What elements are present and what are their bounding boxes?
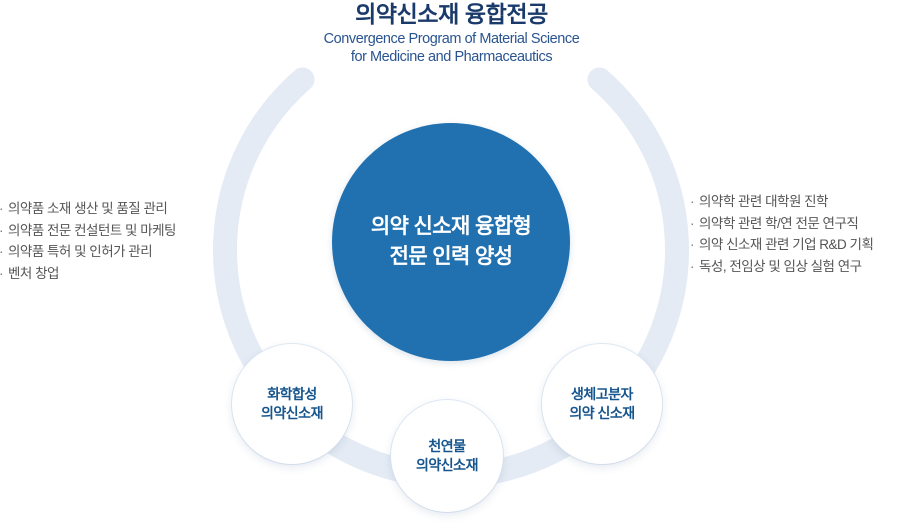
right-outcomes-list: ·의약학 관련 대학원 진학 ·의약학 관련 학/연 전문 연구직 ·의약 신소… (690, 191, 873, 277)
bullet-icon: · (0, 198, 8, 220)
list-item: ·의약품 전문 컨설턴트 및 마케팅 (0, 220, 176, 242)
bullet-icon: · (690, 213, 699, 235)
list-item: ·벤처 창업 (0, 263, 176, 285)
bullet-icon: · (0, 220, 8, 242)
bullet-icon: · (690, 234, 699, 256)
bullet-icon: · (0, 241, 8, 263)
bullet-icon: · (690, 256, 699, 278)
node-natural-products[interactable]: 천연물 의약신소재 (391, 400, 503, 512)
list-item-label: 의약품 전문 컨설턴트 및 마케팅 (8, 223, 176, 238)
list-item: ·의약학 관련 학/연 전문 연구직 (690, 213, 873, 235)
center-goal-label: 의약 신소재 융합형 전문 인력 양성 (371, 212, 531, 272)
list-item-label: 벤처 창업 (8, 266, 59, 281)
center-goal-circle: 의약 신소재 융합형 전문 인력 양성 (332, 123, 570, 361)
list-item: ·의약 신소재 관련 기업 R&D 기획 (690, 234, 873, 256)
bullet-icon: · (690, 191, 699, 213)
list-item-label: 의약학 관련 대학원 진학 (699, 194, 828, 209)
node-biopolymer[interactable]: 생체고분자 의약 신소재 (542, 344, 662, 464)
left-outcomes-list: ·의약품 소재 생산 및 품질 관리 ·의약품 전문 컨설턴트 및 마케팅 ·의… (0, 198, 176, 284)
page-subtitle-line-1: Convergence Program of Material Science (0, 31, 903, 49)
list-item: ·의약품 소재 생산 및 품질 관리 (0, 198, 176, 220)
node-chemical-synthesis[interactable]: 화학합성 의약신소재 (232, 344, 352, 464)
list-item-label: 독성, 전임상 및 임상 실험 연구 (699, 259, 862, 274)
list-item-label: 의약학 관련 학/연 전문 연구직 (699, 216, 858, 231)
node-biopolymer-label: 생체고분자 의약 신소재 (569, 385, 634, 423)
page-title: 의약신소재 융합전공 (0, 0, 903, 27)
list-item-label: 의약품 특허 및 인허가 관리 (8, 244, 152, 259)
list-item: ·독성, 전임상 및 임상 실험 연구 (690, 256, 873, 278)
list-item-label: 의약품 소재 생산 및 품질 관리 (8, 201, 167, 216)
diagram-canvas: 의약신소재 융합전공 Convergence Program of Materi… (0, 0, 903, 528)
diagram-header: 의약신소재 융합전공 Convergence Program of Materi… (0, 0, 903, 66)
page-subtitle-line-2: for Medicine and Pharmaceautics (0, 49, 903, 67)
list-item-label: 의약 신소재 관련 기업 R&D 기획 (699, 237, 873, 252)
node-chemical-synthesis-label: 화학합성 의약신소재 (261, 385, 323, 423)
bullet-icon: · (0, 263, 8, 285)
page-subtitle: Convergence Program of Material Science … (0, 31, 903, 66)
list-item: ·의약품 특허 및 인허가 관리 (0, 241, 176, 263)
list-item: ·의약학 관련 대학원 진학 (690, 191, 873, 213)
node-natural-products-label: 천연물 의약신소재 (416, 437, 478, 475)
